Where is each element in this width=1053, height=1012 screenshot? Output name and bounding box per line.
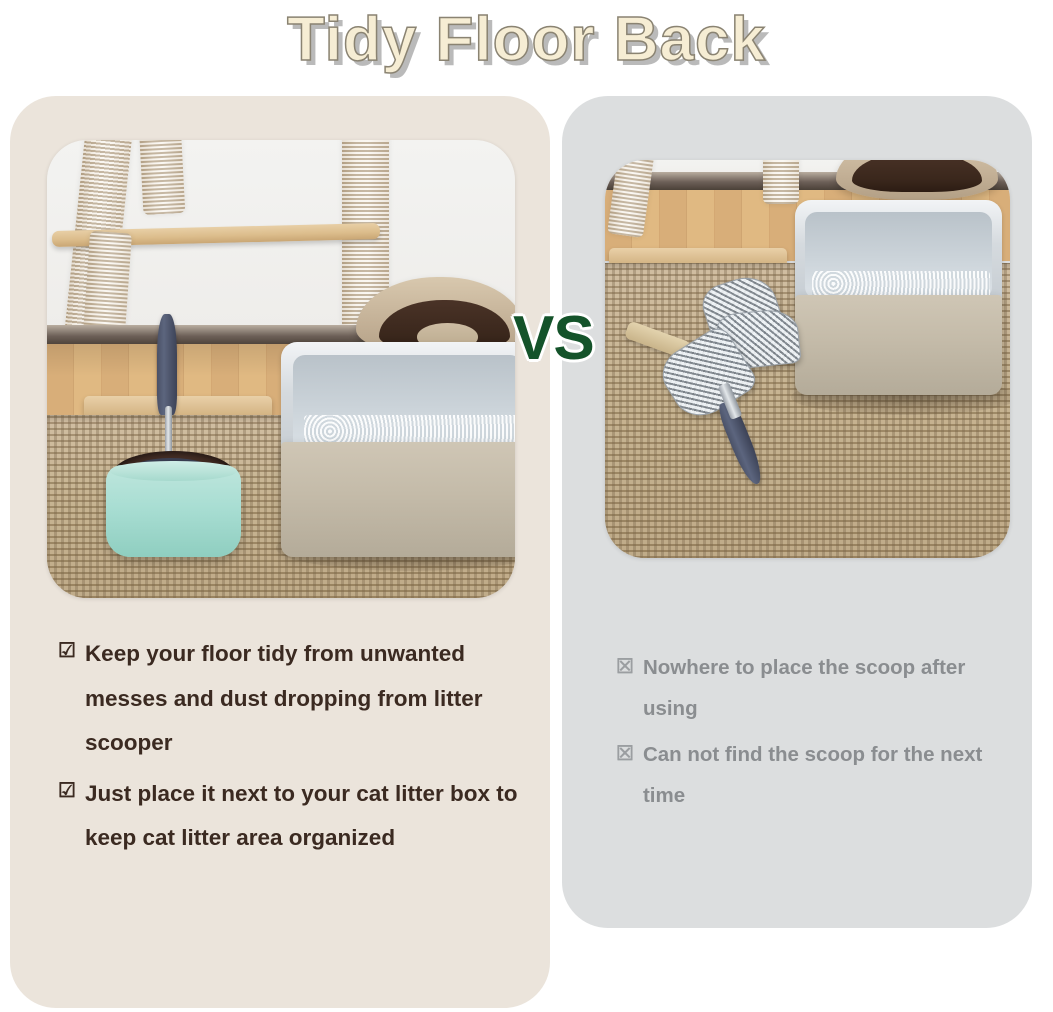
right-product-photo [605, 160, 1010, 558]
scoop-handle [157, 314, 177, 415]
list-item: ☑ Just place it next to your cat litter … [58, 772, 528, 861]
list-item: ☑ Keep your floor tidy from unwanted mes… [58, 632, 528, 766]
list-item-text: Keep your floor tidy from unwanted messe… [85, 632, 528, 766]
list-item: ☒ Nowhere to place the scoop after using [616, 648, 1016, 729]
litter-box-body [281, 442, 515, 557]
left-benefit-list: ☑ Keep your floor tidy from unwanted mes… [58, 632, 528, 867]
cardboard-lounger-inner [852, 160, 982, 192]
page-title: Tidy Floor Back [0, 0, 1053, 78]
left-product-photo [47, 140, 515, 598]
scratching-post [138, 140, 185, 214]
left-photo-scene [47, 140, 515, 598]
litter-box-body [795, 295, 1002, 395]
list-item-text: Can not find the scoop for the next time [643, 735, 1016, 816]
scratching-post [763, 160, 799, 204]
list-item: ☒ Can not find the scoop for the next ti… [616, 735, 1016, 816]
vs-badge: VS [513, 308, 594, 370]
crossed-box-icon: ☒ [616, 648, 634, 688]
right-drawback-list: ☒ Nowhere to place the scoop after using… [616, 648, 1016, 822]
right-photo-scene [605, 160, 1010, 558]
checked-box-icon: ☑ [58, 632, 76, 672]
list-item-text: Just place it next to your cat litter bo… [85, 772, 528, 861]
crossed-box-icon: ☒ [616, 735, 634, 775]
caddy-lip [110, 461, 236, 482]
list-item-text: Nowhere to place the scoop after using [643, 648, 1016, 729]
infographic-root: Tidy Floor Back [0, 0, 1053, 1012]
checked-box-icon: ☑ [58, 772, 76, 812]
